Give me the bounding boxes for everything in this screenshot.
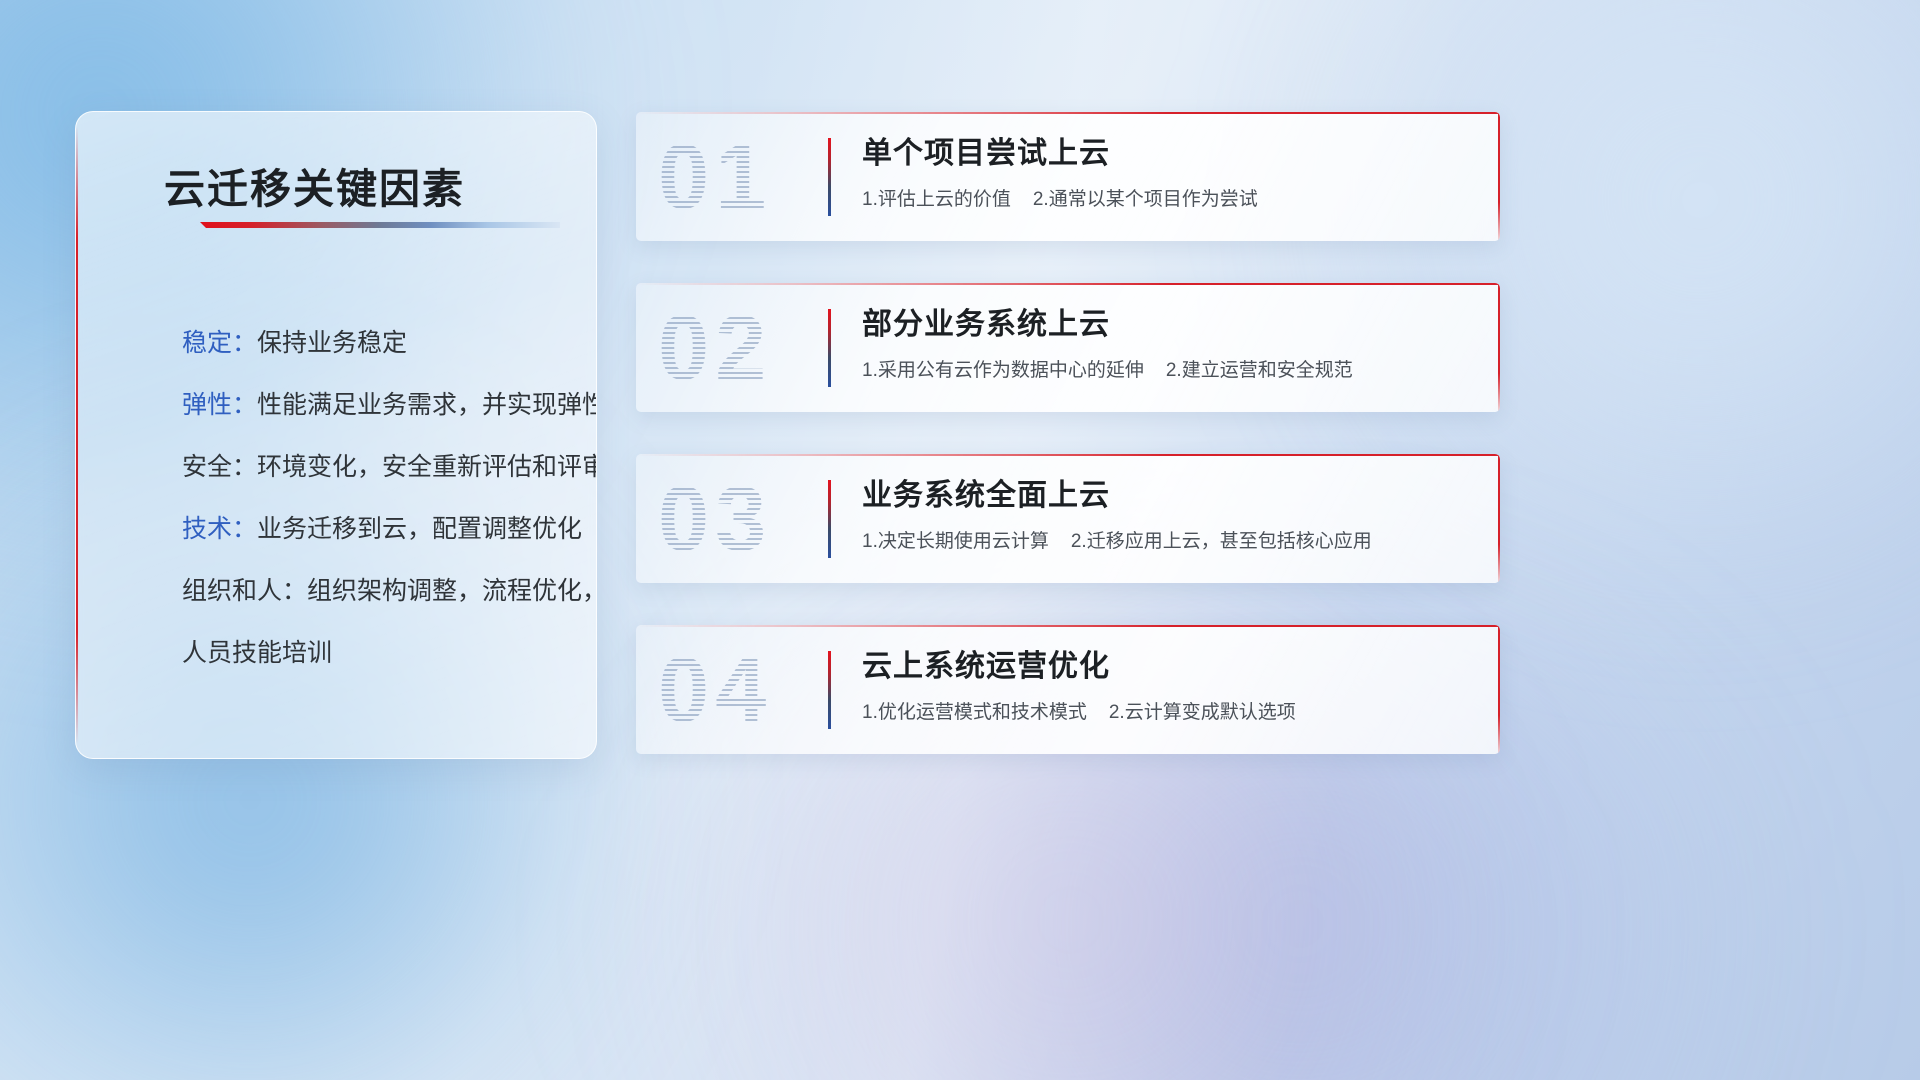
stage-point-1: 1.评估上云的价值 [862, 189, 1011, 210]
key-factors-panel: 云迁移关键因素 稳定：保持业务稳定 弹性：性能满足业务需求，并实现弹性 安全：环… [75, 111, 597, 759]
stage-card-body: 部分业务系统上云 1.采用公有云作为数据中心的延伸2.建立运营和安全规范 [862, 303, 1474, 388]
stage-accent-bar [828, 651, 831, 729]
factor-text: 性能满足业务需求，并实现弹性 [257, 391, 597, 419]
stage-card-body: 云上系统运营优化 1.优化运营模式和技术模式2.云计算变成默认选项 [862, 645, 1474, 730]
stage-card-body: 业务系统全面上云 1.决定长期使用云计算2.迁移应用上云，甚至包括核心应用 [862, 474, 1474, 559]
list-item: 弹性：性能满足业务需求，并实现弹性 [108, 374, 572, 436]
stage-number-watermark: 03 [658, 473, 772, 565]
stage-number-watermark: 01 [658, 131, 772, 223]
stage-title: 云上系统运营优化 [862, 645, 1474, 689]
stage-accent-bar [828, 138, 831, 216]
stage-accent-bar [828, 309, 831, 387]
stage-card-03[interactable]: 03 业务系统全面上云 1.决定长期使用云计算2.迁移应用上云，甚至包括核心应用 [636, 454, 1500, 583]
stage-points: 1.优化运营模式和技术模式2.云计算变成默认选项 [862, 696, 1474, 730]
factor-text: 保持业务稳定 [257, 329, 407, 357]
factor-label: 组织和人： [182, 577, 307, 605]
factor-label: 稳定： [182, 329, 257, 357]
stage-title: 部分业务系统上云 [862, 303, 1474, 347]
factor-text: 业务迁移到云，配置调整优化 [257, 515, 582, 543]
factor-text: 人员技能培训 [182, 639, 332, 667]
stage-card-list: 01 单个项目尝试上云 1.评估上云的价值2.通常以某个项目作为尝试 02 部分… [636, 112, 1500, 796]
stage-card-04[interactable]: 04 云上系统运营优化 1.优化运营模式和技术模式2.云计算变成默认选项 [636, 625, 1500, 754]
stage-card-01[interactable]: 01 单个项目尝试上云 1.评估上云的价值2.通常以某个项目作为尝试 [636, 112, 1500, 241]
list-item: 安全：环境变化，安全重新评估和评审 [108, 436, 572, 498]
list-item: 人员技能培训 [108, 622, 572, 684]
stage-title: 单个项目尝试上云 [862, 132, 1474, 176]
factor-label: 技术： [182, 515, 257, 543]
stage-accent-bar [828, 480, 831, 558]
factor-text: 环境变化，安全重新评估和评审 [257, 453, 597, 481]
factor-text: 组织架构调整，流程优化， [307, 577, 597, 605]
stage-point-1: 1.采用公有云作为数据中心的延伸 [862, 360, 1144, 381]
stage-points: 1.决定长期使用云计算2.迁移应用上云，甚至包括核心应用 [862, 525, 1474, 559]
stage-card-02[interactable]: 02 部分业务系统上云 1.采用公有云作为数据中心的延伸2.建立运营和安全规范 [636, 283, 1500, 412]
factor-label: 安全： [182, 453, 257, 481]
stage-number-watermark: 04 [658, 644, 772, 736]
stage-point-1: 1.优化运营模式和技术模式 [862, 702, 1087, 723]
title-underline-rule [200, 222, 560, 228]
stage-point-2: 2.云计算变成默认选项 [1109, 702, 1296, 723]
stage-points: 1.评估上云的价值2.通常以某个项目作为尝试 [862, 183, 1474, 217]
list-item: 稳定：保持业务稳定 [108, 312, 572, 374]
slide-canvas: 云迁移关键因素 稳定：保持业务稳定 弹性：性能满足业务需求，并实现弹性 安全：环… [0, 0, 1920, 1080]
stage-number-watermark: 02 [658, 302, 772, 394]
stage-points: 1.采用公有云作为数据中心的延伸2.建立运营和安全规范 [862, 354, 1474, 388]
stage-point-2: 2.建立运营和安全规范 [1166, 360, 1353, 381]
list-item: 技术：业务迁移到云，配置调整优化 [108, 498, 572, 560]
stage-card-body: 单个项目尝试上云 1.评估上云的价值2.通常以某个项目作为尝试 [862, 132, 1474, 217]
page-title: 云迁移关键因素 [164, 155, 564, 215]
factor-list: 稳定：保持业务稳定 弹性：性能满足业务需求，并实现弹性 安全：环境变化，安全重新… [108, 312, 572, 684]
stage-title: 业务系统全面上云 [862, 474, 1474, 518]
stage-point-2: 2.迁移应用上云，甚至包括核心应用 [1071, 531, 1372, 552]
factor-label: 弹性： [182, 391, 257, 419]
stage-point-1: 1.决定长期使用云计算 [862, 531, 1049, 552]
stage-point-2: 2.通常以某个项目作为尝试 [1033, 189, 1258, 210]
list-item: 组织和人：组织架构调整，流程优化， [108, 560, 572, 622]
